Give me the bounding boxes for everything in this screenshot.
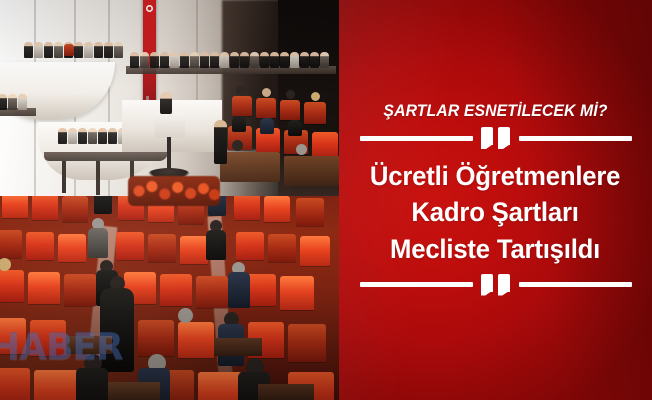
chamber-seat [0,318,26,354]
divider-bar-right [519,136,632,141]
chamber-seat [26,232,54,260]
seated-member [94,196,112,214]
seated-member [230,52,239,68]
seated-member [240,52,249,68]
kicker-text: ŞARTLAR ESNETİLECEK Mİ? [383,101,607,121]
seated-member [130,52,139,68]
seated-member [320,52,329,68]
auditorium-seating [0,196,340,400]
chamber-seat [280,100,300,120]
quote-mark-icon [473,127,519,149]
seated-member [228,272,250,308]
seated-member [54,42,63,58]
seated-member [88,128,97,144]
wooden-desk [220,152,280,182]
member-head [286,90,295,99]
news-thumbnail-card: HABER ŞARTLAR ESNETİLECEK Mİ? Ücretli Öğ… [0,0,652,400]
seated-member [260,118,274,134]
chamber-seat [256,98,276,118]
member-head [232,140,243,151]
chamber-seat [300,236,330,266]
seated-member [150,52,159,68]
chamber-seat [234,196,260,220]
desk-leg [62,161,66,193]
seated-member [74,42,83,58]
divider-bar-left [360,282,473,287]
chamber-seat [32,196,58,220]
chamber-seat [58,234,86,262]
wall-seam [108,0,110,215]
seated-member [78,128,87,144]
chamber-seat [30,320,66,356]
wooden-desk [108,382,160,400]
podium [155,112,185,138]
chamber-seat [28,272,60,304]
seated-member [58,128,67,144]
chamber-seat [296,198,324,226]
member-head [178,308,193,323]
chamber-seat [148,234,176,262]
seated-member [104,42,113,58]
chamber-seat [304,102,326,124]
seated-member [260,52,269,68]
chamber-seat [64,44,74,56]
standing-member [100,288,134,372]
headline-line-2: Kadro Şartları [370,194,620,230]
seated-member [160,52,169,68]
seated-member [288,120,302,136]
seated-member [250,52,259,68]
chamber-seat [178,322,214,358]
wooden-desk [258,384,314,400]
seated-member [220,52,229,68]
seated-member [280,52,289,68]
seated-member [44,42,53,58]
seated-member [114,42,123,58]
chamber-seat [268,234,296,262]
seated-members-row [0,94,27,110]
seated-member [84,42,93,58]
headline-panel-content: ŞARTLAR ESNETİLECEK Mİ? Ücretli Öğretmen… [339,0,652,400]
chamber-seat [280,276,314,310]
quote-divider-top [360,127,632,149]
seated-member [0,94,7,110]
headline-line-1: Ücretli Öğretmenlere [370,158,620,194]
wooden-desk [284,156,340,186]
chamber-seat [198,372,242,400]
member-head [236,86,245,95]
seated-member [76,368,108,400]
standing-member [214,120,227,164]
seated-member [8,94,17,110]
seated-member [180,52,189,68]
seated-members-row [130,52,329,68]
seated-member [210,52,219,68]
divider-bar-left [360,136,473,141]
chamber-seat [0,368,30,400]
seated-member [190,52,199,68]
chamber-seat [2,196,28,218]
tribune-desk [44,152,168,161]
chamber-seat [288,324,326,362]
seated-member [300,52,309,68]
seated-member [24,42,33,58]
chamber-seat [264,196,290,222]
parliament-photo: HABER [0,0,340,400]
chamber-seat [0,270,24,302]
seated-member [108,128,117,144]
seated-member [98,128,107,144]
chamber-seat [232,96,252,116]
flower-arrangement [128,176,220,206]
seated-member [290,52,299,68]
quote-mark-icon [473,274,519,296]
chamber-seat [34,370,78,400]
member-head [311,92,320,101]
quote-divider-bottom [360,274,632,296]
headline-line-3: Mecliste Tartışıldı [370,231,620,267]
seated-member [206,230,226,260]
member-head [296,144,307,155]
seated-member [170,52,179,68]
chamber-seat [180,236,208,264]
seated-member [200,52,209,68]
chamber-seat [116,232,144,260]
headline-panel: ŞARTLAR ESNETİLECEK Mİ? Ücretli Öğretmen… [339,0,652,400]
seated-member [88,228,108,258]
divider-bar-right [519,282,632,287]
chamber-seat [312,132,338,158]
seated-member [310,52,319,68]
chamber-seat [64,274,96,306]
seated-member [270,52,279,68]
seated-member [18,94,27,110]
wooden-desk [214,338,262,356]
wooden-desk [66,336,112,354]
seated-member [34,42,43,58]
chamber-seat [196,276,228,308]
microphone-stand [167,137,171,170]
seated-member [140,52,149,68]
chamber-seat [0,230,22,258]
chamber-seat [62,196,88,222]
seated-member [94,42,103,58]
speaker-at-podium [160,92,172,114]
chamber-seat [160,274,192,306]
member-head [262,88,271,97]
chamber-seat [236,232,264,260]
headline: Ücretli Öğretmenlere Kadro Şartları Mecl… [370,152,620,270]
desk-leg [96,161,100,195]
chamber-seat [138,320,174,356]
seated-member [68,128,77,144]
seated-member [232,116,246,132]
